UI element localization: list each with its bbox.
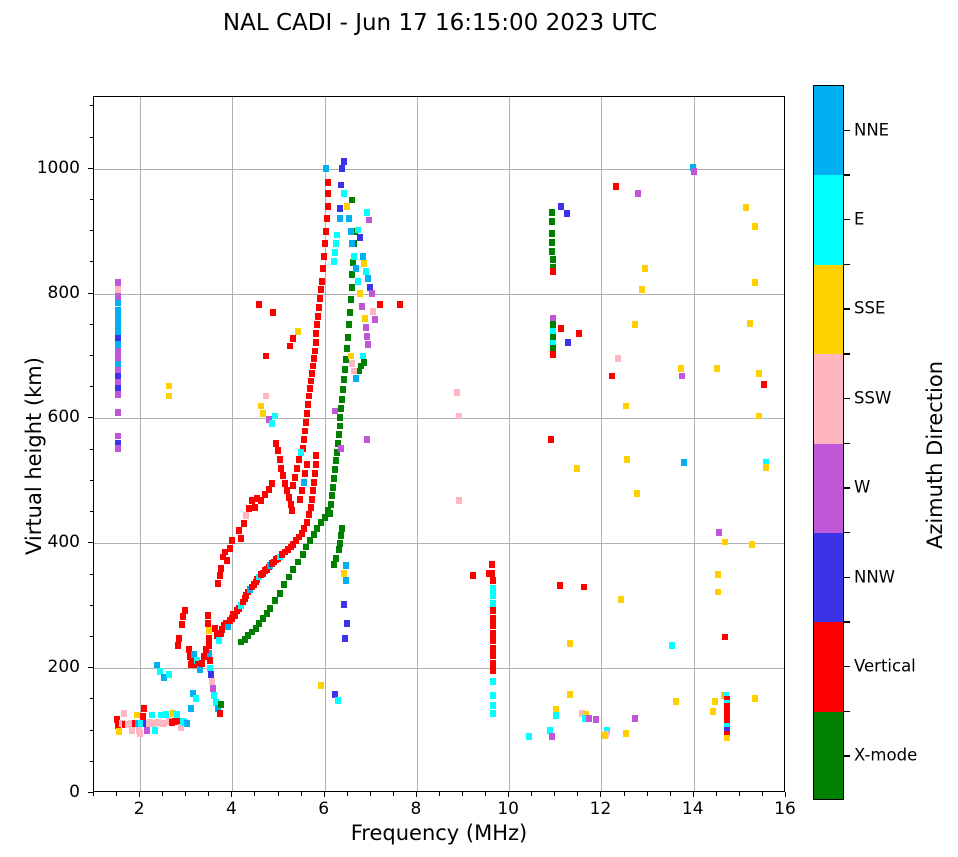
echo-point: [490, 702, 496, 709]
colorbar-segment-e[interactable]: [814, 175, 843, 265]
echo-point: [593, 716, 599, 723]
y-tick-label: 800: [0, 283, 80, 303]
echo-point: [281, 581, 287, 588]
echo-point: [363, 268, 369, 275]
echo-point: [549, 230, 555, 237]
echo-point: [333, 457, 339, 464]
echo-point: [337, 540, 343, 547]
echo-point: [236, 527, 242, 534]
colorbar-tick: [844, 308, 850, 309]
echo-point: [550, 351, 556, 358]
echo-point: [490, 678, 496, 685]
echo-point: [679, 373, 685, 380]
echo-point: [490, 615, 496, 622]
echo-point: [166, 393, 172, 400]
echo-point: [341, 158, 347, 165]
echo-point: [549, 218, 555, 225]
echo-point: [290, 566, 296, 573]
echo-point: [743, 204, 749, 211]
echo-point: [331, 475, 337, 482]
echo-point: [216, 637, 222, 644]
colorbar-label-sse: SSE: [854, 299, 885, 318]
echo-point: [207, 657, 213, 664]
echo-point: [337, 423, 343, 430]
echo-point: [669, 642, 675, 649]
echo-point: [339, 525, 345, 532]
echo-point: [152, 727, 158, 734]
echo-point: [550, 256, 556, 263]
echo-point: [277, 590, 283, 597]
colorbar-label-x-mode: X-mode: [854, 746, 917, 765]
gridline-vertical: [694, 97, 695, 791]
echo-point: [332, 249, 338, 256]
echo-point: [179, 621, 185, 628]
echo-point: [490, 645, 496, 652]
echo-point: [305, 401, 311, 408]
colorbar-boundary-tick: [844, 353, 850, 354]
y-tick-minor: [90, 761, 94, 762]
echo-point: [184, 720, 190, 727]
x-tick-label: 12: [590, 799, 612, 819]
echo-point: [362, 315, 368, 322]
echo-point: [318, 682, 324, 689]
x-tick-minor: [301, 792, 302, 796]
echo-point: [302, 470, 308, 477]
echo-point: [270, 309, 276, 316]
gridline-horizontal: [94, 294, 784, 295]
echo-point: [752, 695, 758, 702]
echo-point: [355, 278, 361, 285]
echo-point: [325, 507, 331, 514]
echo-point: [115, 307, 121, 314]
echo-point: [243, 512, 249, 519]
echo-point: [312, 348, 318, 355]
x-tick-minor: [278, 792, 279, 796]
echo-point: [144, 727, 150, 734]
echo-point: [263, 393, 269, 400]
echo-point: [338, 182, 344, 189]
echo-point: [722, 634, 728, 641]
echo-point: [311, 531, 317, 538]
echo-point: [322, 514, 328, 521]
echo-point: [623, 403, 629, 410]
echo-point: [278, 465, 284, 472]
echo-point: [490, 592, 496, 599]
echo-point: [331, 561, 337, 568]
echo-point: [337, 215, 343, 222]
echo-point: [490, 692, 496, 699]
echo-point: [302, 428, 308, 435]
echo-point: [349, 240, 355, 247]
echo-point: [295, 328, 301, 335]
echo-point: [238, 535, 244, 542]
echo-point: [313, 452, 319, 459]
x-tick-minor: [577, 792, 578, 796]
echo-point: [549, 248, 555, 255]
echo-point: [756, 413, 762, 420]
colorbar-tick: [844, 666, 850, 667]
echo-point: [272, 413, 278, 420]
azimuth-colorbar[interactable]: [813, 85, 844, 800]
echo-point: [304, 410, 310, 417]
echo-point: [310, 487, 316, 494]
colorbar-segment-vertical[interactable]: [814, 622, 843, 712]
y-tick-minor: [90, 574, 94, 575]
echo-point: [342, 366, 348, 373]
y-tick: [88, 293, 93, 294]
echo-point: [357, 290, 363, 297]
x-tick-minor: [347, 792, 348, 796]
x-tick: [693, 792, 694, 797]
y-tick-minor: [90, 511, 94, 512]
echo-point: [602, 732, 608, 739]
y-axis-label: Virtual height (km): [22, 256, 46, 656]
echo-point: [322, 240, 328, 247]
x-tick-minor: [162, 792, 163, 796]
echo-point: [175, 642, 181, 649]
echo-point: [365, 275, 371, 282]
echo-point: [344, 345, 350, 352]
echo-point: [308, 378, 314, 385]
echo-point: [203, 646, 209, 653]
colorbar-tick: [844, 487, 850, 488]
echo-point: [338, 532, 344, 539]
echo-point: [341, 376, 347, 383]
echo-point: [490, 622, 496, 629]
y-tick-label: 600: [0, 407, 80, 427]
echo-point: [294, 465, 300, 472]
echo-point: [218, 565, 224, 572]
echo-point: [346, 215, 352, 222]
echo-point: [312, 470, 318, 477]
echo-point: [323, 228, 329, 235]
echo-point: [710, 708, 716, 715]
echo-point: [567, 691, 573, 698]
colorbar-segment-nne[interactable]: [814, 86, 843, 176]
echo-point: [635, 190, 641, 197]
x-tick-minor: [670, 792, 671, 796]
echo-point: [377, 301, 383, 308]
colorbar-segment-nnw[interactable]: [814, 533, 843, 623]
echo-point: [313, 461, 319, 468]
echo-point: [339, 165, 345, 172]
echo-point: [343, 562, 349, 569]
echo-point: [174, 711, 180, 718]
x-tick: [231, 792, 232, 797]
echo-point: [338, 445, 344, 452]
x-tick-minor: [554, 792, 555, 796]
x-tick-label: 10: [497, 799, 519, 819]
echo-point: [273, 440, 279, 447]
echo-point: [229, 537, 235, 544]
colorbar-title: Azimuth Direction: [923, 255, 947, 655]
y-tick-minor: [90, 386, 94, 387]
echo-point: [304, 519, 310, 526]
y-tick-minor: [90, 698, 94, 699]
echo-point: [364, 436, 370, 443]
x-tick-label: 4: [226, 799, 237, 819]
colorbar-label-nne: NNE: [854, 120, 889, 139]
page-title: NAL CADI - Jun 17 16:15:00 2023 UTC: [0, 10, 880, 36]
echo-point: [564, 210, 570, 217]
echo-point: [332, 408, 338, 415]
echo-point: [574, 465, 580, 472]
plot-canvas[interactable]: [93, 96, 785, 792]
echo-point: [211, 692, 217, 699]
echo-point: [301, 479, 307, 486]
echo-point: [724, 735, 730, 742]
colorbar-segment-x-mode[interactable]: [814, 712, 843, 800]
y-tick-minor: [90, 199, 94, 200]
echo-point: [205, 612, 211, 619]
echo-point: [115, 409, 121, 416]
echo-point: [217, 572, 223, 579]
echo-point: [613, 183, 619, 190]
colorbar-label-nnw: NNW: [854, 567, 895, 586]
echo-point: [115, 286, 121, 293]
echo-point: [576, 330, 582, 337]
echo-point: [296, 456, 302, 463]
echo-point: [353, 375, 359, 382]
echo-point: [714, 365, 720, 372]
echo-point: [277, 456, 283, 463]
echo-point: [290, 482, 296, 489]
echo-point: [336, 431, 342, 438]
echo-point: [632, 321, 638, 328]
colorbar-tick: [844, 577, 850, 578]
y-tick-label: 200: [0, 657, 80, 677]
y-tick-label: 1000: [0, 158, 80, 178]
echo-point: [205, 620, 211, 627]
echo-point: [550, 268, 556, 275]
echo-point: [330, 484, 336, 491]
echo-point: [309, 370, 315, 377]
echo-point: [280, 472, 286, 479]
echo-point: [365, 341, 371, 348]
x-tick-minor: [462, 792, 463, 796]
x-tick-minor: [393, 792, 394, 796]
colorbar-boundary-tick: [844, 174, 850, 175]
echo-point: [490, 607, 496, 614]
echo-point: [624, 456, 630, 463]
echo-point: [166, 671, 172, 678]
echo-point: [486, 570, 492, 577]
echo-point: [208, 671, 214, 678]
echo-point: [558, 325, 564, 332]
colorbar-segment-w[interactable]: [814, 444, 843, 534]
echo-point: [115, 328, 121, 335]
y-tick: [88, 417, 93, 418]
echo-point: [691, 168, 697, 175]
gridline-horizontal: [94, 543, 784, 544]
colorbar-tick: [844, 130, 850, 131]
echo-point: [615, 355, 621, 362]
echo-point: [489, 561, 495, 568]
echo-point: [586, 715, 592, 722]
echo-point: [549, 209, 555, 216]
ionogram-figure: NAL CADI - Jun 17 16:15:00 2023 UTC Freq…: [0, 0, 958, 857]
echo-point: [115, 341, 121, 348]
echo-point: [344, 620, 350, 627]
echo-point: [749, 541, 755, 548]
echo-point: [325, 190, 331, 197]
echo-point: [115, 279, 121, 286]
y-tick-minor: [90, 480, 94, 481]
echo-point: [266, 486, 272, 493]
echo-point: [490, 630, 496, 637]
echo-point: [115, 335, 121, 342]
echo-point: [299, 487, 305, 494]
echo-point: [339, 396, 345, 403]
y-tick-label: 0: [0, 782, 80, 802]
echo-point: [553, 712, 559, 719]
echo-point: [115, 321, 121, 328]
gridline-vertical: [140, 97, 141, 791]
echo-point: [470, 572, 476, 579]
x-tick: [416, 792, 417, 797]
gridline-vertical: [417, 97, 418, 791]
echo-point: [360, 253, 366, 260]
x-axis-label: Frequency (MHz): [93, 821, 785, 845]
echo-point: [193, 695, 199, 702]
x-tick-minor: [208, 792, 209, 796]
y-tick-minor: [90, 636, 94, 637]
echo-point: [263, 353, 269, 360]
y-tick-minor: [90, 261, 94, 262]
echo-point: [121, 710, 127, 717]
echo-point: [303, 419, 309, 426]
echo-point: [761, 381, 767, 388]
echo-point: [141, 705, 147, 712]
echo-point: [325, 179, 331, 186]
echo-point: [349, 284, 355, 291]
echo-point: [337, 205, 343, 212]
echo-point: [307, 537, 313, 544]
echo-point: [526, 733, 532, 740]
echo-point: [115, 445, 121, 452]
echo-point: [341, 601, 347, 608]
echo-point: [201, 653, 207, 660]
echo-point: [290, 335, 296, 342]
y-tick-minor: [90, 355, 94, 356]
echo-point: [618, 596, 624, 603]
colorbar-boundary-tick: [844, 532, 850, 533]
echo-point: [306, 393, 312, 400]
colorbar-segment-ssw[interactable]: [814, 354, 843, 444]
y-tick-minor: [90, 449, 94, 450]
echo-point: [252, 504, 258, 511]
echo-point: [115, 433, 121, 440]
echo-point: [490, 600, 496, 607]
y-tick-label: 400: [0, 532, 80, 552]
echo-point: [357, 234, 363, 241]
echo-point: [490, 667, 496, 674]
echo-point: [313, 330, 319, 337]
echo-point: [364, 333, 370, 340]
echo-point: [206, 635, 212, 642]
colorbar-boundary-tick: [844, 443, 850, 444]
echo-point: [333, 240, 339, 247]
echo-point: [218, 701, 224, 708]
echo-point: [348, 296, 354, 303]
echo-point: [217, 710, 223, 717]
echo-point: [752, 223, 758, 230]
x-tick-minor: [624, 792, 625, 796]
echo-point: [347, 309, 353, 316]
y-tick: [88, 168, 93, 169]
echo-point: [311, 479, 317, 486]
echo-point: [549, 239, 555, 246]
y-tick: [88, 667, 93, 668]
echo-point: [351, 253, 357, 260]
y-tick-minor: [90, 137, 94, 138]
echo-point: [149, 712, 155, 719]
x-tick-minor: [116, 792, 117, 796]
echo-point: [320, 265, 326, 272]
echo-point: [456, 497, 462, 504]
echo-point: [565, 339, 571, 346]
echo-point: [567, 640, 573, 647]
echo-point: [681, 459, 687, 466]
colorbar-tick: [844, 755, 850, 756]
echo-point: [301, 436, 307, 443]
echo-point: [206, 627, 212, 634]
x-tick-label: 14: [682, 799, 704, 819]
echo-point: [310, 363, 316, 370]
echo-point: [314, 321, 320, 328]
echo-point: [752, 279, 758, 286]
echo-point: [256, 301, 262, 308]
x-tick-label: 2: [134, 799, 145, 819]
echo-point: [301, 525, 307, 532]
echo-point: [325, 203, 331, 210]
echo-point: [318, 286, 324, 293]
echo-point: [343, 577, 349, 584]
gridline-vertical: [232, 97, 233, 791]
x-tick-minor: [762, 792, 763, 796]
x-tick-minor: [485, 792, 486, 796]
echo-point: [634, 490, 640, 497]
x-tick-label: 8: [411, 799, 422, 819]
echo-point: [295, 559, 301, 566]
echo-point: [673, 698, 679, 705]
echo-point: [215, 580, 221, 587]
x-tick-label: 6: [318, 799, 329, 819]
echo-point: [341, 570, 347, 577]
echo-point: [329, 492, 335, 499]
echo-point: [321, 253, 327, 260]
echo-point: [298, 449, 304, 456]
echo-point: [323, 165, 329, 172]
colorbar-boundary-tick: [844, 264, 850, 265]
echo-point: [346, 321, 352, 328]
echo-point: [338, 405, 344, 412]
x-tick-label: 16: [774, 799, 796, 819]
echo-point: [490, 652, 496, 659]
echo-point: [199, 660, 205, 667]
echo-point: [490, 637, 496, 644]
echo-point: [369, 290, 375, 297]
colorbar-segment-sse[interactable]: [814, 265, 843, 355]
echo-point: [258, 497, 264, 504]
echo-point: [311, 355, 317, 362]
echo-point: [747, 320, 753, 327]
echo-point: [678, 365, 684, 372]
echo-point: [115, 391, 121, 398]
echo-point: [134, 712, 140, 719]
echo-point: [581, 584, 587, 591]
echo-point: [366, 217, 372, 224]
